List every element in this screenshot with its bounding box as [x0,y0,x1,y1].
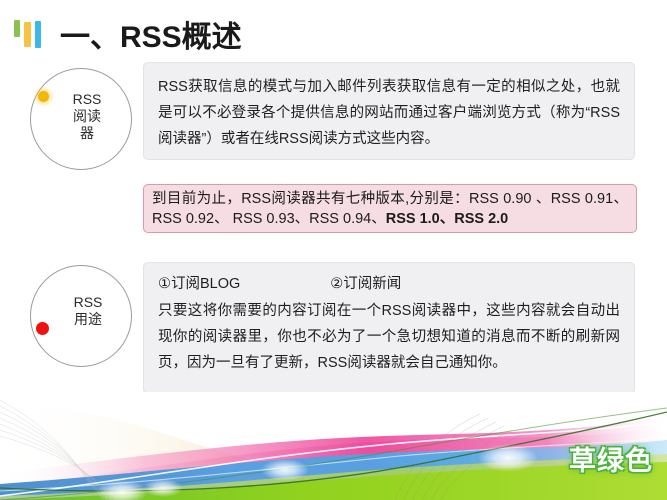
circle-rss-usage-label: RSS 用途 [31,294,131,328]
title-decoration-bars-icon [14,19,48,49]
panel-rss-usage: ①订阅BLOG②订阅新闻 只要这将你需要的内容订阅在一个RSS阅读器中，这些内容… [143,262,635,394]
panel-rss-usage-items: ①订阅BLOG②订阅新闻 [158,272,620,296]
circle-rss-reader: RSS 阅读 器 [30,68,132,170]
watermark-text: 草绿色 [569,439,653,478]
panel-rss-usage-text: 只要这将你需要的内容订阅在一个RSS阅读器中，这些内容就会自动出现你的阅读器里，… [158,298,620,376]
panel-rss-versions-text: 到目前为止，RSS阅读器共有七种版本,分别是：RSS 0.90 、RSS 0.9… [152,189,628,229]
slide-canvas: 一、RSS概述 RSS 阅读 器 RSS 用途 RSS获取信息的模式与加入邮件列… [0,0,667,500]
green-bar-icon [14,20,20,37]
wave-graphic-icon [0,392,667,500]
panel-rss-versions: 到目前为止，RSS阅读器共有七种版本,分别是：RSS 0.90 、RSS 0.9… [143,184,637,233]
blue-bar-icon [35,21,41,48]
title-row: 一、RSS概述 [0,10,667,56]
decorative-wave-band: 草绿色 [0,392,667,500]
versions-text-bold: RSS 1.0、RSS 2.0 [386,211,509,227]
page-title: 一、RSS概述 [60,12,242,56]
yellow-bar-icon [24,22,31,47]
circle-reader-line-1: RSS [43,91,131,108]
panel-rss-overview: RSS获取信息的模式与加入邮件列表获取信息有一定的相似之处，也就是可以不必登录各… [143,62,635,160]
circle-rss-reader-label: RSS 阅读 器 [31,91,131,142]
usage-item-2: ②订阅新闻 [330,272,401,296]
circle-usage-line-1: RSS [45,294,131,311]
circle-rss-usage: RSS 用途 [30,265,132,367]
circle-reader-line-2: 阅读 [43,108,131,125]
circle-usage-line-2: 用途 [45,311,131,328]
panel-rss-overview-text: RSS获取信息的模式与加入邮件列表获取信息有一定的相似之处，也就是可以不必登录各… [158,74,620,152]
usage-item-1: ①订阅BLOG [158,276,240,292]
circle-reader-line-3: 器 [43,125,131,142]
